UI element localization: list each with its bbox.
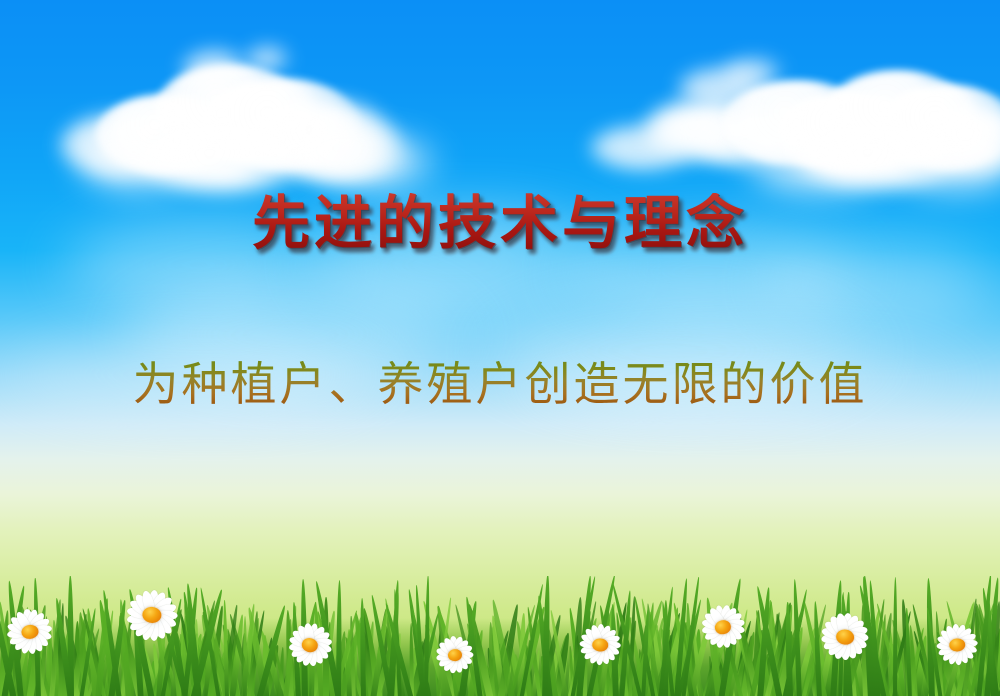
- daisy-flower-icon: [697, 601, 749, 653]
- presentation-slide: 先进的技术与理念 为种植户、养殖户创造无限的价值: [0, 0, 1000, 696]
- daisy-flower-icon: [935, 623, 980, 668]
- daisy-flower-icon: [818, 610, 872, 664]
- daisy-flower-icon: [434, 634, 476, 676]
- slide-title: 先进的技术与理念: [0, 193, 1000, 254]
- daisy-flower-icon: [123, 586, 180, 643]
- daisy-center: [592, 638, 608, 652]
- daisy-flower-icon: [4, 606, 56, 658]
- slide-subtitle: 为种植户、养殖户创造无限的价值: [0, 358, 1000, 411]
- daisy-flower-icon: [578, 623, 622, 667]
